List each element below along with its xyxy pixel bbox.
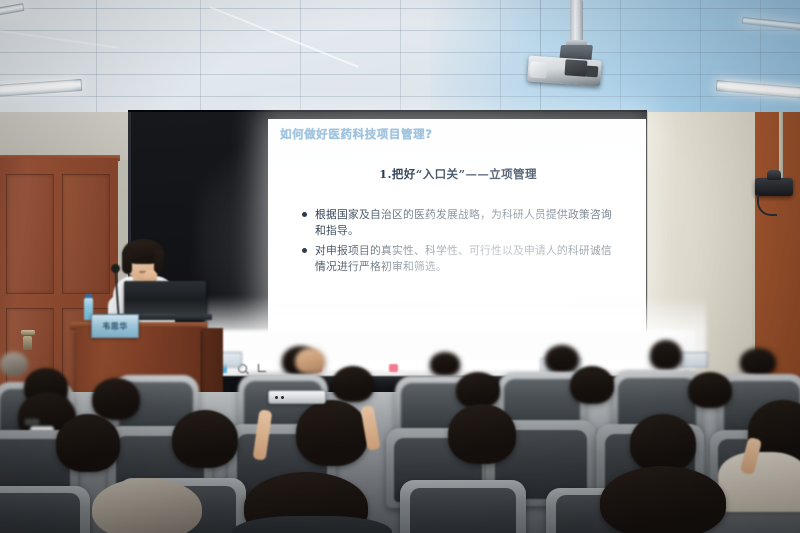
audience-head xyxy=(570,366,614,404)
slide-bullet-2: 对申报项目的真实性、科学性、可行性以及申请人的科研诚信情况进行严格初审和筛选。 xyxy=(315,243,615,274)
audience-head xyxy=(92,378,140,420)
ceiling xyxy=(0,0,800,118)
wall-conduit xyxy=(779,112,783,178)
audience-shoulder xyxy=(232,516,392,533)
audience-head xyxy=(688,372,732,408)
chair xyxy=(400,480,526,533)
door-lock[interactable] xyxy=(23,336,32,350)
nameplate-text: 韦思华 xyxy=(102,321,128,332)
audience-head xyxy=(456,372,500,408)
audience-head xyxy=(332,366,374,402)
audience-head xyxy=(448,404,516,464)
audience-head xyxy=(92,478,202,533)
audience-head xyxy=(740,348,776,376)
monitor-right xyxy=(680,352,708,368)
glasses-icon xyxy=(24,418,40,426)
bullet-dot-icon xyxy=(302,248,307,253)
audience-head xyxy=(56,414,120,472)
audience-head xyxy=(295,348,325,374)
slide-title: 如何做好医药科技项目管理? xyxy=(280,126,636,142)
phone-camera-icon xyxy=(275,396,278,399)
bullet-dot-icon xyxy=(302,212,307,217)
chair xyxy=(0,486,90,533)
ceiling-light-2 xyxy=(0,3,24,17)
list-item: 对申报项目的真实性、科学性、可行性以及申请人的科研诚信情况进行严格初审和筛选。 xyxy=(302,243,636,274)
attendee-with-phone xyxy=(296,400,368,466)
audience-head xyxy=(430,352,460,376)
slide-bullet-1: 根据国家及自治区的医药发展战略，为科研人员提供政策咨询和指导。 xyxy=(315,207,615,238)
left-wall-upper xyxy=(0,112,128,160)
wall-camera-icon xyxy=(767,170,781,180)
projector-lens xyxy=(529,61,547,78)
microphone-icon xyxy=(111,264,120,273)
projector-vent xyxy=(586,66,599,78)
speaker-hair-right xyxy=(154,248,164,274)
task-view-icon[interactable] xyxy=(258,364,266,372)
phone-camera-icon xyxy=(281,396,284,399)
audience-shoulder xyxy=(718,452,800,512)
lecture-hall-photo: 如何做好医药科技项目管理? 1.把好“入口关”——立项管理 根据国家及自治区的医… xyxy=(0,0,800,533)
audience-head xyxy=(545,345,579,373)
list-item: 根据国家及自治区的医药发展战略，为科研人员提供政策咨询和指导。 xyxy=(302,207,636,238)
door-handle[interactable] xyxy=(21,330,35,335)
nameplate: 韦思华 xyxy=(91,314,139,338)
laptop[interactable] xyxy=(124,281,206,315)
audience-head xyxy=(630,414,696,472)
app-icon-pink-2[interactable] xyxy=(389,364,398,372)
projector-top-panel xyxy=(564,59,587,76)
slide-heading: 1.把好“入口关”——立项管理 xyxy=(280,166,636,182)
audience-head xyxy=(0,352,28,376)
audience-head xyxy=(172,410,238,468)
slide-bullet-list: 根据国家及自治区的医药发展战略，为科研人员提供政策咨询和指导。 对申报项目的真实… xyxy=(280,207,636,274)
audience-head xyxy=(650,340,682,370)
audience-head xyxy=(600,466,726,533)
speaker-hair-left xyxy=(122,248,132,274)
